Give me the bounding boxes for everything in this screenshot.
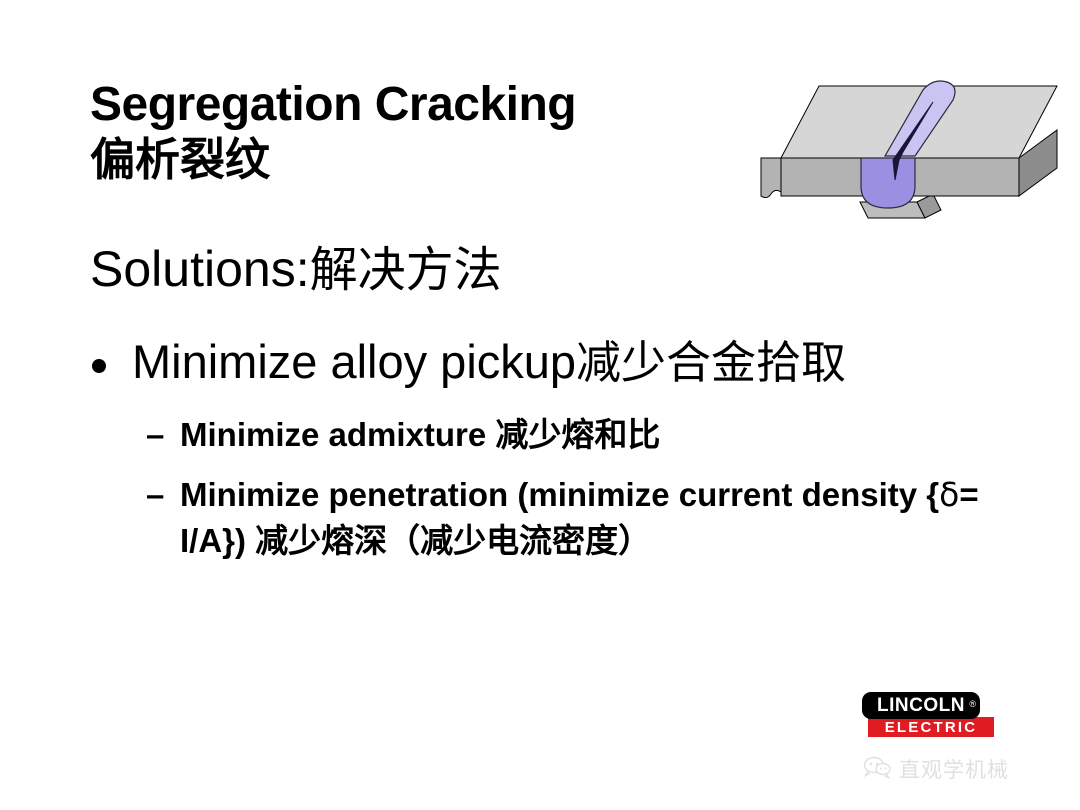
en-dash-marker-icon: – <box>146 412 180 458</box>
logo-electric-text: ELECTRIC <box>885 719 978 736</box>
weld-bead-front <box>861 158 915 208</box>
watermark: 直观学机械 <box>862 754 1009 784</box>
logo-lincoln-bar: LINCOLN ® <box>862 692 980 719</box>
en-dash-marker-icon-2: – <box>146 472 180 518</box>
bullet-level1-chinese: 减少合金拾取 <box>576 336 846 389</box>
bullet-level2-item-1-english: Minimize admixture <box>180 416 495 453</box>
bullet-dot-icon <box>92 359 106 373</box>
bullet-level1-english: Minimize alloy pickup <box>132 335 576 388</box>
bullet-level2-item-2: – Minimize penetration (minimize current… <box>146 472 1026 564</box>
bullet-level2-item-1: – Minimize admixture 减少熔和比 <box>146 412 1026 458</box>
bullet-level1-text: Minimize alloy pickup减少合金拾取 <box>132 334 846 391</box>
wechat-bubble-icon <box>862 755 892 784</box>
logo-electric-bar: ELECTRIC <box>868 717 994 737</box>
solutions-heading: Solutions:解决方法 <box>90 240 502 299</box>
page-title: Segregation Cracking 偏析裂纹 <box>90 78 750 186</box>
lincoln-electric-logo: LINCOLN ® ELECTRIC <box>862 692 994 740</box>
solutions-heading-english: Solutions: <box>90 241 310 297</box>
bullet-level1: Minimize alloy pickup减少合金拾取 <box>92 334 846 391</box>
plate-break-edge <box>761 158 781 198</box>
delta-symbol: δ <box>939 475 959 514</box>
weld-diagram-svg <box>757 68 1075 228</box>
title-chinese: 偏析裂纹 <box>90 134 750 186</box>
registered-trademark-icon: ® <box>969 699 976 709</box>
title-english: Segregation Cracking <box>90 78 750 132</box>
bullet-level2-item-1-chinese: 减少熔和比 <box>495 415 660 454</box>
logo-lincoln-text: LINCOLN <box>877 695 965 717</box>
weld-segregation-crack-diagram <box>757 68 1075 228</box>
bullet-level2-list: – Minimize admixture 减少熔和比 – Minimize pe… <box>146 412 1026 578</box>
solutions-heading-chinese: 解决方法 <box>310 242 502 298</box>
wechat-bubble-svg <box>862 755 892 779</box>
watermark-text: 直观学机械 <box>899 754 1009 784</box>
bullet-level2-item-2-text: Minimize penetration (minimize current d… <box>180 472 1026 564</box>
slide-canvas: Segregation Cracking 偏析裂纹 Solutions:解决方法… <box>0 0 1080 810</box>
bullet-level2-item-1-text: Minimize admixture 减少熔和比 <box>180 412 1026 458</box>
bullet-level2-item-2-english: Minimize penetration (minimize current d… <box>180 476 939 513</box>
bullet-level2-item-2-chinese: 减少熔深（减少电流密度） <box>255 521 651 560</box>
